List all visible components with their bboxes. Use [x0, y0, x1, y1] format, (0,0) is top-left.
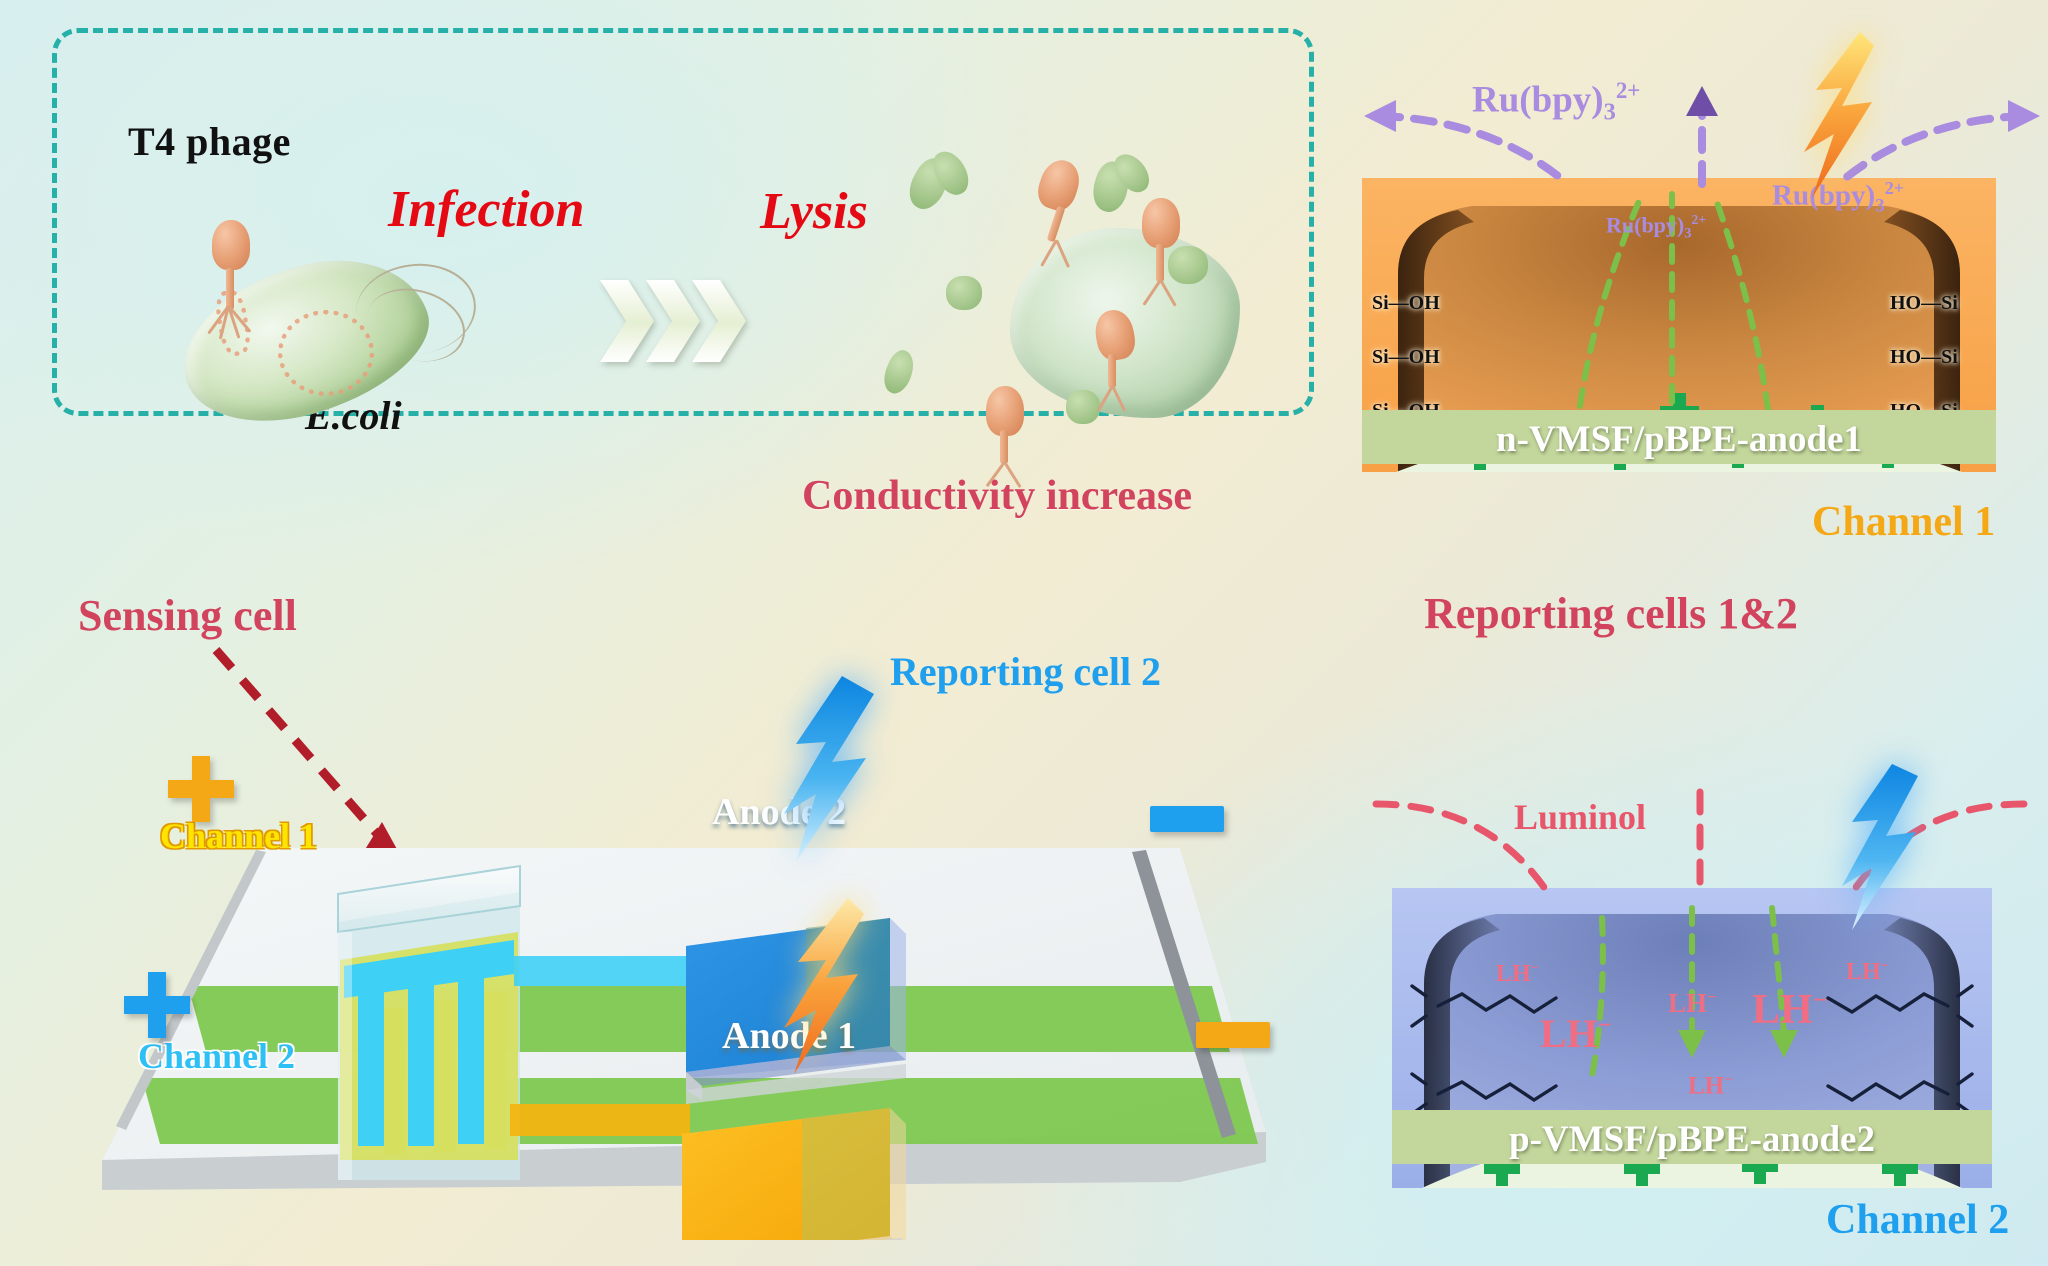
luminol-anion-label-3: LH− — [1668, 988, 1716, 1019]
conductivity-increase-label: Conductivity increase — [802, 472, 1192, 520]
ecl-emission-blue-bolt-icon — [770, 674, 880, 869]
luminol-anion-label-1: LH− — [1496, 960, 1539, 988]
lysed-ecoli-illustration — [880, 150, 1310, 460]
electrode-minus-channel1-icon — [1150, 806, 1224, 837]
lightning-bolt-blue-icon — [1830, 762, 1922, 937]
anode-2-band-label: p-VMSF/pBPE-anode2 — [1392, 1118, 1992, 1161]
lightning-bolt-orange-icon — [1790, 30, 1876, 205]
microfluidic-chip-3d — [90, 660, 1330, 1240]
silanol-group-right-2: HO—Si — [1890, 346, 1958, 369]
electrode-minus-channel2-icon — [1196, 1022, 1270, 1053]
channel-1-badge: Channel 1 — [1812, 498, 1995, 546]
t4-phage-title: T4 phage — [128, 118, 291, 165]
silanol-group-left-1: Si—OH — [1372, 292, 1440, 315]
electrode-plus-channel1-icon — [164, 752, 238, 831]
luminol-anion-label-2: LH− — [1540, 1010, 1611, 1057]
lysis-label: Lysis — [760, 182, 868, 241]
ru-complex-label-middle: Ru(bpy)32+ — [1606, 212, 1706, 243]
triple-chevron-right-icon — [598, 278, 758, 364]
luminol-label: Luminol — [1514, 796, 1646, 838]
reporting-cells-heading: Reporting cells 1&2 — [1424, 588, 1798, 639]
ecl-emission-orange-bolt-icon — [758, 896, 868, 1081]
ecoli-infected-illustration — [160, 228, 460, 448]
luminol-anion-label-5: LH− — [1846, 958, 1889, 986]
electrode-plus-channel2-icon — [120, 968, 194, 1047]
silanol-group-right-1: HO—Si — [1890, 292, 1958, 315]
luminol-diffusion-paths — [1370, 770, 2030, 900]
sensing-cell-label: Sensing cell — [78, 590, 297, 641]
channel-2-badge: Channel 2 — [1826, 1196, 2009, 1244]
anode-1-band-label: n-VMSF/pBPE-anode1 — [1362, 418, 1996, 461]
ru-diffusion-arrows — [1362, 74, 2042, 194]
silanol-group-left-2: Si—OH — [1372, 346, 1440, 369]
luminol-anion-label-4: LH− — [1752, 986, 1827, 1034]
luminol-anion-label-6: LH− — [1688, 1072, 1733, 1100]
